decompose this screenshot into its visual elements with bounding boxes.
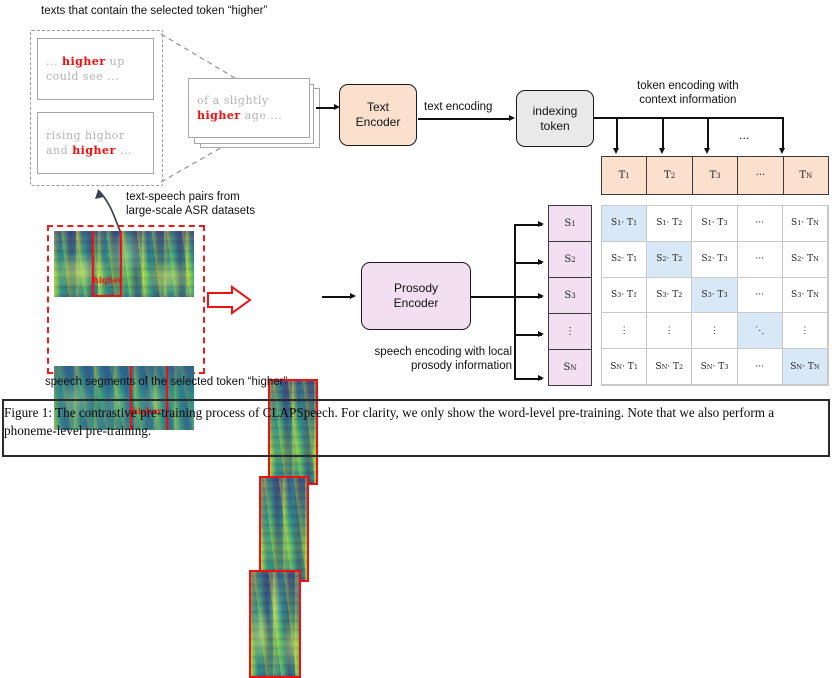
- matrix-cell-r5-c5: SN · TN: [783, 349, 828, 385]
- caption-left-rule: [2, 399, 4, 457]
- prosody-bus-vertical: [514, 224, 516, 380]
- highlighted-token: higher: [62, 55, 106, 68]
- matrix-cell-r4-c1: ⋮: [602, 313, 647, 349]
- token-embedding-row: T1T2T3···TN: [601, 156, 829, 195]
- text-sample-1-line-1: ... higher up: [46, 54, 145, 69]
- speech-region-token: “higher”: [248, 376, 288, 388]
- matrix-cell-r3-c4: ···: [738, 278, 783, 314]
- arrow-head-crops-to-prosody: [350, 293, 356, 299]
- speech-encoding-label-line2: prosody information: [340, 359, 512, 373]
- speech-region-label-text: speech segments of the selected token: [45, 376, 244, 388]
- token-cell-3: T3: [693, 157, 738, 194]
- token-encoding-label-line2: context information: [637, 93, 739, 107]
- texts-region-label: texts that contain the selected token “h…: [41, 4, 267, 18]
- speech-encoding-label-line1: speech encoding with local: [340, 345, 512, 359]
- text-sample-1-line-2: could see ...: [46, 69, 145, 84]
- matrix-cell-r5-c2: SN · T2: [647, 349, 692, 385]
- text-sample-card-2: rising highor and higher ...: [37, 112, 154, 174]
- speech-cell-5: SN: [549, 350, 591, 385]
- caption-bottom-rule: [2, 455, 830, 457]
- matrix-cell-r3-c2: S3 · T2: [647, 278, 692, 314]
- matrix-cell-r2-c1: S2 · T1: [602, 242, 647, 278]
- s-arrow-4: [538, 331, 544, 337]
- matrix-cell-r2-c3: S2 · T3: [692, 242, 737, 278]
- prosody-encoder-label-line2: Encoder: [394, 296, 439, 311]
- caption-right-rule: [828, 399, 830, 457]
- plain-text: and: [46, 144, 72, 157]
- indexing-token-label-line1: indexing: [533, 104, 578, 119]
- matrix-cell-r3-c5: S3 · TN: [783, 278, 828, 314]
- figure-canvas: texts that contain the selected token “h…: [0, 0, 832, 464]
- token-cell-2: T2: [647, 157, 692, 194]
- arrow-line-encoding-to-indexing: [418, 118, 511, 120]
- text-sample-2-line-2: and higher ...: [46, 143, 145, 158]
- matrix-cell-r2-c5: S2 · TN: [783, 242, 828, 278]
- token-cell-5: TN: [784, 157, 828, 194]
- matrix-cell-r5-c3: SN · T3: [692, 349, 737, 385]
- spectrogram-utterance-1: higher: [54, 231, 194, 297]
- plain-text: of a slightly: [197, 94, 269, 107]
- plain-text: ...: [116, 144, 132, 157]
- plain-text: rising highor: [46, 129, 125, 142]
- stacked-text-card-front: of a slightly higher age ...: [188, 78, 310, 138]
- token-arrow-1: [613, 148, 619, 154]
- matrix-cell-r4-c3: ⋮: [692, 313, 737, 349]
- speech-crop-stack-front: [249, 570, 301, 678]
- plain-text: age ...: [241, 109, 283, 122]
- token-bus-ellipsis: ···: [739, 132, 750, 145]
- arrow-line-crops-to-prosody: [322, 296, 352, 298]
- plain-text: could see ...: [46, 70, 119, 83]
- text-encoder-label-line2: Encoder: [356, 115, 401, 130]
- matrix-cell-r4-c4: ⋱: [738, 313, 783, 349]
- matrix-cell-r5-c1: SN · T1: [602, 349, 647, 385]
- matrix-cell-r3-c1: S3 · T1: [602, 278, 647, 314]
- matrix-cell-r4-c5: ⋮: [783, 313, 828, 349]
- token-drop-n: [782, 117, 784, 150]
- s-arrow-3: [538, 293, 544, 299]
- token-cell-1: T1: [602, 157, 647, 194]
- caption-top-rule: [2, 399, 830, 401]
- speech-encoding-label: speech encoding with local prosody infor…: [340, 345, 512, 373]
- matrix-cell-r1-c5: S1 · TN: [783, 206, 828, 242]
- speech-region-label: speech segments of the selected token “h…: [45, 375, 287, 389]
- speech-embedding-column: S1S2S3⋮SN: [548, 205, 592, 386]
- indexing-token-box[interactable]: indexing token: [516, 90, 594, 147]
- stacked-text-line-2: higher age ...: [197, 108, 301, 123]
- text-encoder-box[interactable]: Text Encoder: [339, 84, 417, 146]
- matrix-cell-r3-c3: S3 · T3: [692, 278, 737, 314]
- token-drop-3: [707, 117, 709, 150]
- figure-caption: Figure 1: The contrastive pre-training p…: [4, 404, 828, 440]
- spectrogram-1-token-box: [92, 231, 122, 297]
- matrix-cell-r4-c2: ⋮: [647, 313, 692, 349]
- token-encoding-label-line1: token encoding with: [637, 79, 739, 93]
- arrow-line-text-to-encoder: [316, 107, 336, 109]
- arrow-head-encoding-to-indexing: [509, 115, 515, 121]
- token-drop-1: [616, 117, 618, 150]
- prosody-bus-line: [471, 296, 516, 298]
- matrix-cell-r1-c4: ···: [738, 206, 783, 242]
- token-bus-line: [594, 117, 784, 119]
- token-arrow-3: [704, 148, 710, 154]
- stacked-text-line-1: of a slightly: [197, 93, 301, 108]
- speech-cell-1: S1: [549, 206, 591, 242]
- text-encoding-label: text encoding: [424, 100, 492, 114]
- indexing-token-label-line2: token: [540, 119, 569, 134]
- similarity-matrix: S1 · T1S1 · T2S1 · T3···S1 · TNS2 · T1S2…: [601, 205, 829, 386]
- matrix-cell-r2-c2: S2 · T2: [647, 242, 692, 278]
- matrix-cell-r2-c4: ···: [738, 242, 783, 278]
- red-hollow-arrow: [206, 285, 254, 317]
- highlighted-token: higher: [72, 144, 116, 157]
- speech-cell-2: S2: [549, 242, 591, 278]
- text-sample-card-1: ... higher up could see ...: [37, 38, 154, 100]
- plain-text: ...: [46, 55, 62, 68]
- text-encoder-label-line1: Text: [367, 100, 389, 115]
- text-sample-2-line-1: rising highor: [46, 128, 145, 143]
- pairs-note: text-speech pairs from large-scale ASR d…: [126, 190, 255, 218]
- speech-cell-3: S3: [549, 278, 591, 314]
- pairs-note-line2: large-scale ASR datasets: [126, 204, 255, 218]
- token-arrow-2: [659, 148, 665, 154]
- speech-cell-4: ⋮: [549, 314, 591, 350]
- texts-region-token: “higher”: [228, 5, 268, 17]
- token-cell-4: ···: [738, 157, 783, 194]
- s-arrow-2: [538, 259, 544, 265]
- s-arrow-1: [538, 221, 544, 227]
- token-arrow-n: [779, 148, 785, 154]
- matrix-cell-r5-c4: ···: [738, 349, 783, 385]
- plain-text: up: [106, 55, 125, 68]
- matrix-cell-r1-c2: S1 · T2: [647, 206, 692, 242]
- highlighted-token: higher: [197, 109, 241, 122]
- token-drop-2: [662, 117, 664, 150]
- spectrogram-1-token-label: higher: [93, 275, 123, 285]
- texts-region-label-text: texts that contain the selected token: [41, 5, 224, 17]
- pairs-note-line1: text-speech pairs from: [126, 190, 255, 204]
- matrix-cell-r1-c3: S1 · T3: [692, 206, 737, 242]
- s-arrow-n: [538, 375, 544, 381]
- prosody-encoder-label-line1: Prosody: [394, 281, 438, 296]
- token-encoding-label: token encoding with context information: [637, 79, 739, 107]
- matrix-cell-r1-c1: S1 · T1: [602, 206, 647, 242]
- prosody-encoder-box[interactable]: Prosody Encoder: [361, 262, 471, 330]
- speech-crop-stack-back-1: [259, 476, 309, 582]
